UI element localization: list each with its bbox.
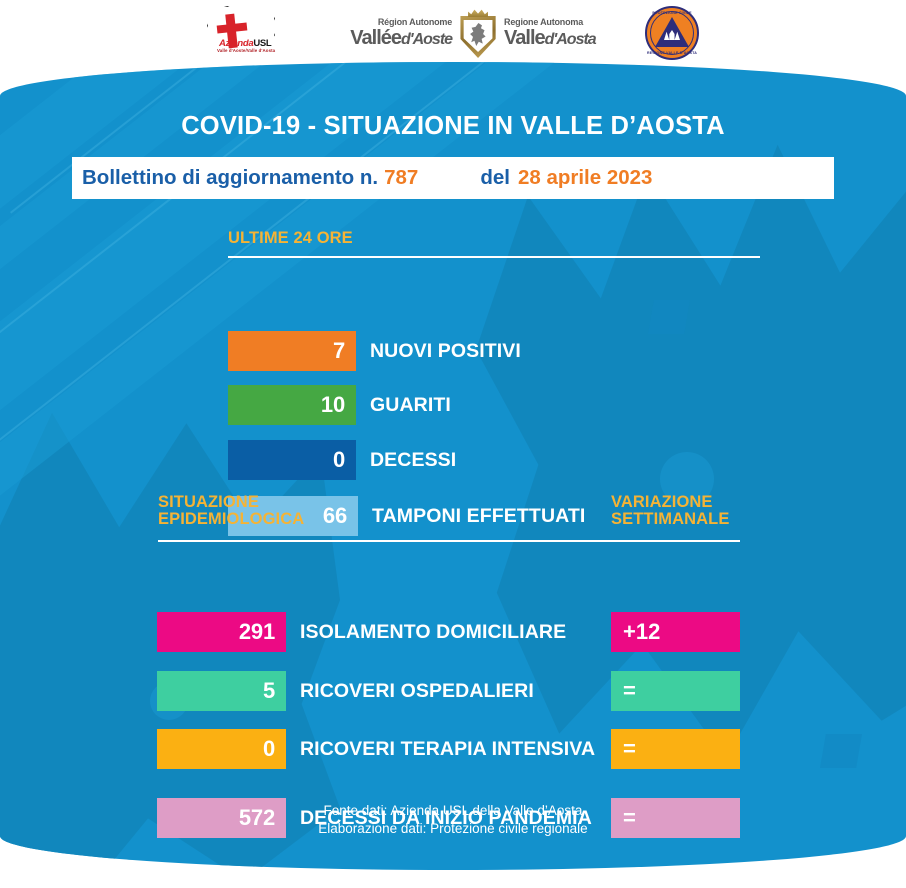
footer-source-line: Fonte dati: Azienda USL della Valle d’Ao… (0, 802, 906, 820)
stat-row-decessi: 0 DECESSI (228, 440, 456, 480)
stat-bar-ricoveri-terapia-intensiva: 0 (157, 729, 286, 769)
stat-bar-isolamento-domiciliare: 291 (157, 612, 286, 652)
stat-row-ricoveri-terapia-intensiva: 0 RICOVERI TERAPIA INTENSIVA (157, 729, 595, 769)
main-info-panel: COVID-19 - SITUAZIONE IN VALLE D’AOSTA B… (0, 62, 906, 870)
footer-credits: Fonte dati: Azienda USL della Valle d’Ao… (0, 802, 906, 838)
header-logo-bar: AziendaUSL Valle d'Aoste/Valle d'Aosta R… (0, 0, 906, 66)
variation-value-ricoveri-ospedalieri: = (623, 678, 636, 704)
region-logo-french-suffix: d'Aoste (401, 31, 452, 48)
region-logo-italian-name: Valle (504, 27, 545, 49)
azienda-usl-subtitle: Valle d'Aoste/Valle d'Aosta (217, 48, 275, 53)
stat-label-decessi: DECESSI (370, 449, 456, 472)
region-logo-italian-side: Regione Autonoma Valled'Aosta (504, 18, 596, 48)
bulletin-label: Bollettino di aggiornamento n. (82, 166, 378, 190)
protezione-civile-bottom-text: REGIONE VALLE D'AOSTA (641, 51, 703, 55)
stat-row-isolamento-domiciliare: 291 ISOLAMENTO DOMICILIARE (157, 612, 566, 652)
stat-row-guariti: 10 GUARITI (228, 385, 451, 425)
stat-label-ricoveri-terapia-intensiva: RICOVERI TERAPIA INTENSIVA (300, 738, 595, 761)
region-logo-french-big: Valléed'Aoste (350, 28, 452, 48)
variation-value-ricoveri-terapia-intensiva: = (623, 736, 636, 762)
section-heading-situazione-epidemiologica: SITUAZIONE EPIDEMIOLOGICA (158, 494, 304, 529)
protezione-civile-top-text: PROTEZIONE CIVILE (641, 11, 703, 15)
bulletin-date: 28 aprile 2023 (518, 166, 653, 190)
stat-bar-decessi: 0 (228, 440, 356, 480)
protezione-civile-logo: PROTEZIONE CIVILE REGIONE VALLE D'AOSTA (641, 4, 705, 62)
crown-icon (468, 8, 488, 17)
stat-value-tamponi-effettuati: 66 (323, 503, 347, 529)
stat-bar-guariti: 10 (228, 385, 356, 425)
stat-label-isolamento-domiciliare: ISOLAMENTO DOMICILIARE (300, 621, 566, 644)
stat-row-nuovi-positivi: 7 NUOVI POSITIVI (228, 331, 521, 371)
bulletin-number: 787 (384, 166, 418, 190)
page-title: COVID-19 - SITUAZIONE IN VALLE D’AOSTA (0, 112, 906, 141)
stat-value-isolamento-domiciliare: 291 (239, 619, 275, 645)
stat-bar-nuovi-positivi: 7 (228, 331, 356, 371)
variation-bar-ricoveri-ospedalieri: = (611, 671, 740, 711)
regione-valle-daosta-logo: Région Autonome Valléed'Aoste Regione Au… (323, 7, 623, 59)
stat-value-ricoveri-ospedalieri: 5 (263, 678, 275, 704)
region-logo-french-small: Région Autonome (350, 18, 452, 27)
stat-label-ricoveri-ospedalieri: RICOVERI OSPEDALIERI (300, 680, 534, 703)
panel-content: COVID-19 - SITUAZIONE IN VALLE D’AOSTA B… (0, 62, 906, 870)
stat-value-guariti: 10 (321, 392, 345, 418)
variation-bar-ricoveri-terapia-intensiva: = (611, 729, 740, 769)
stat-row-ricoveri-ospedalieri: 5 RICOVERI OSPEDALIERI (157, 671, 534, 711)
footer-elaboration-line: Elaborazione dati: Protezione civile reg… (0, 820, 906, 838)
stat-label-nuovi-positivi: NUOVI POSITIVI (370, 340, 521, 363)
stat-value-ricoveri-terapia-intensiva: 0 (263, 736, 275, 762)
region-logo-italian-big: Valled'Aosta (504, 28, 596, 48)
stat-label-guariti: GUARITI (370, 394, 451, 417)
azienda-usl-logo: AziendaUSL Valle d'Aoste/Valle d'Aosta (201, 4, 305, 62)
region-logo-french-side: Région Autonome Valléed'Aoste (350, 18, 452, 48)
variation-value-isolamento-domiciliare: +12 (623, 619, 660, 645)
bulletin-del-label: del (480, 166, 510, 190)
variation-bar-isolamento-domiciliare: +12 (611, 612, 740, 652)
stat-bar-ricoveri-ospedalieri: 5 (157, 671, 286, 711)
section-heading-last-24h: ULTIME 24 ORE (228, 230, 353, 247)
stat-label-tamponi-effettuati: TAMPONI EFFETTUATI (372, 505, 585, 528)
section-heading-variazione-settimanale: VARIAZIONE SETTIMANALE (611, 494, 729, 529)
region-logo-italian-small: Regione Autonoma (504, 18, 596, 27)
stat-value-decessi: 0 (333, 447, 345, 473)
region-logo-french-name: Vallée (350, 27, 401, 49)
region-logo-italian-suffix: d'Aosta (545, 31, 596, 48)
section-divider-epidemiological (158, 540, 740, 542)
valle-daosta-coat-of-arms-icon (458, 8, 498, 58)
section-divider-last-24h (228, 256, 760, 258)
bulletin-bar: Bollettino di aggiornamento n. 787 del 2… (72, 157, 834, 199)
stat-value-nuovi-positivi: 7 (333, 338, 345, 364)
